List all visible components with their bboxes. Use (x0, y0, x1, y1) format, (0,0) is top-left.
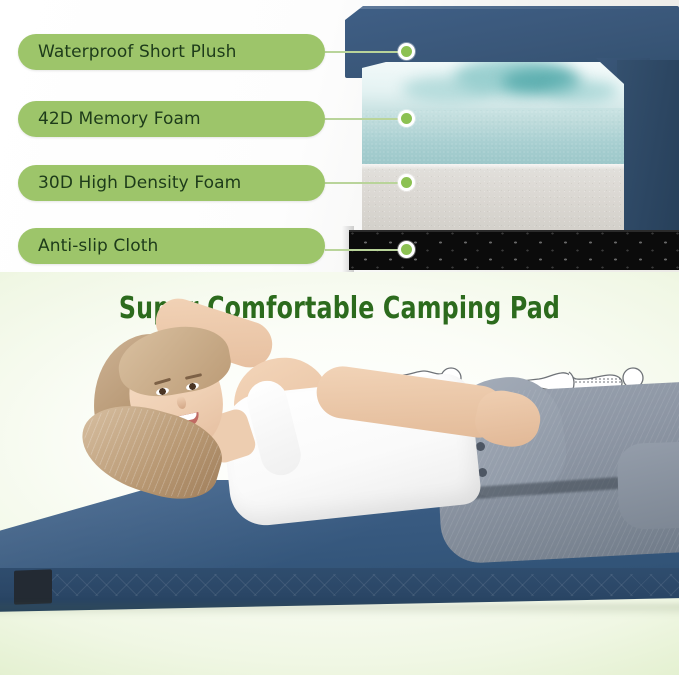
layer-marker-dot-1 (398, 43, 415, 60)
product-infographic: Waterproof Short Plush 42D Memory Foam 3… (0, 0, 679, 675)
layer-label-text: 42D Memory Foam (18, 109, 201, 129)
cover-right-wall (617, 60, 679, 230)
connector-line-4 (325, 249, 403, 251)
connector-line-1 (325, 51, 403, 53)
layer-label-30d-high-density-foam: 30D High Density Foam (18, 165, 325, 201)
lifestyle-panel: Super Comfortable Camping Pad No Pain Wh… (0, 272, 679, 675)
layer-label-anti-slip-cloth: Anti-slip Cloth (18, 228, 325, 264)
connector-line-3 (325, 182, 403, 184)
gel-swirl (402, 76, 494, 102)
layer-label-text: Anti-slip Cloth (18, 236, 158, 256)
connector-line-2 (325, 118, 403, 120)
layer-label-text: 30D High Density Foam (18, 173, 241, 193)
layer-label-text: Waterproof Short Plush (18, 42, 236, 62)
layer-label-waterproof-short-plush: Waterproof Short Plush (18, 34, 325, 70)
lower-leg (617, 440, 679, 530)
layer-marker-dot-3 (398, 174, 415, 191)
layer-marker-dot-2 (398, 110, 415, 127)
layer-marker-dot-4 (398, 241, 415, 258)
layer-label-42d-memory-foam: 42D Memory Foam (18, 101, 325, 137)
model-woman (58, 292, 679, 622)
model-clip (0, 272, 679, 675)
gel-swirl (548, 80, 618, 102)
pants-button (476, 442, 485, 451)
layer-cutaway-panel: Waterproof Short Plush 42D Memory Foam 3… (0, 0, 679, 272)
